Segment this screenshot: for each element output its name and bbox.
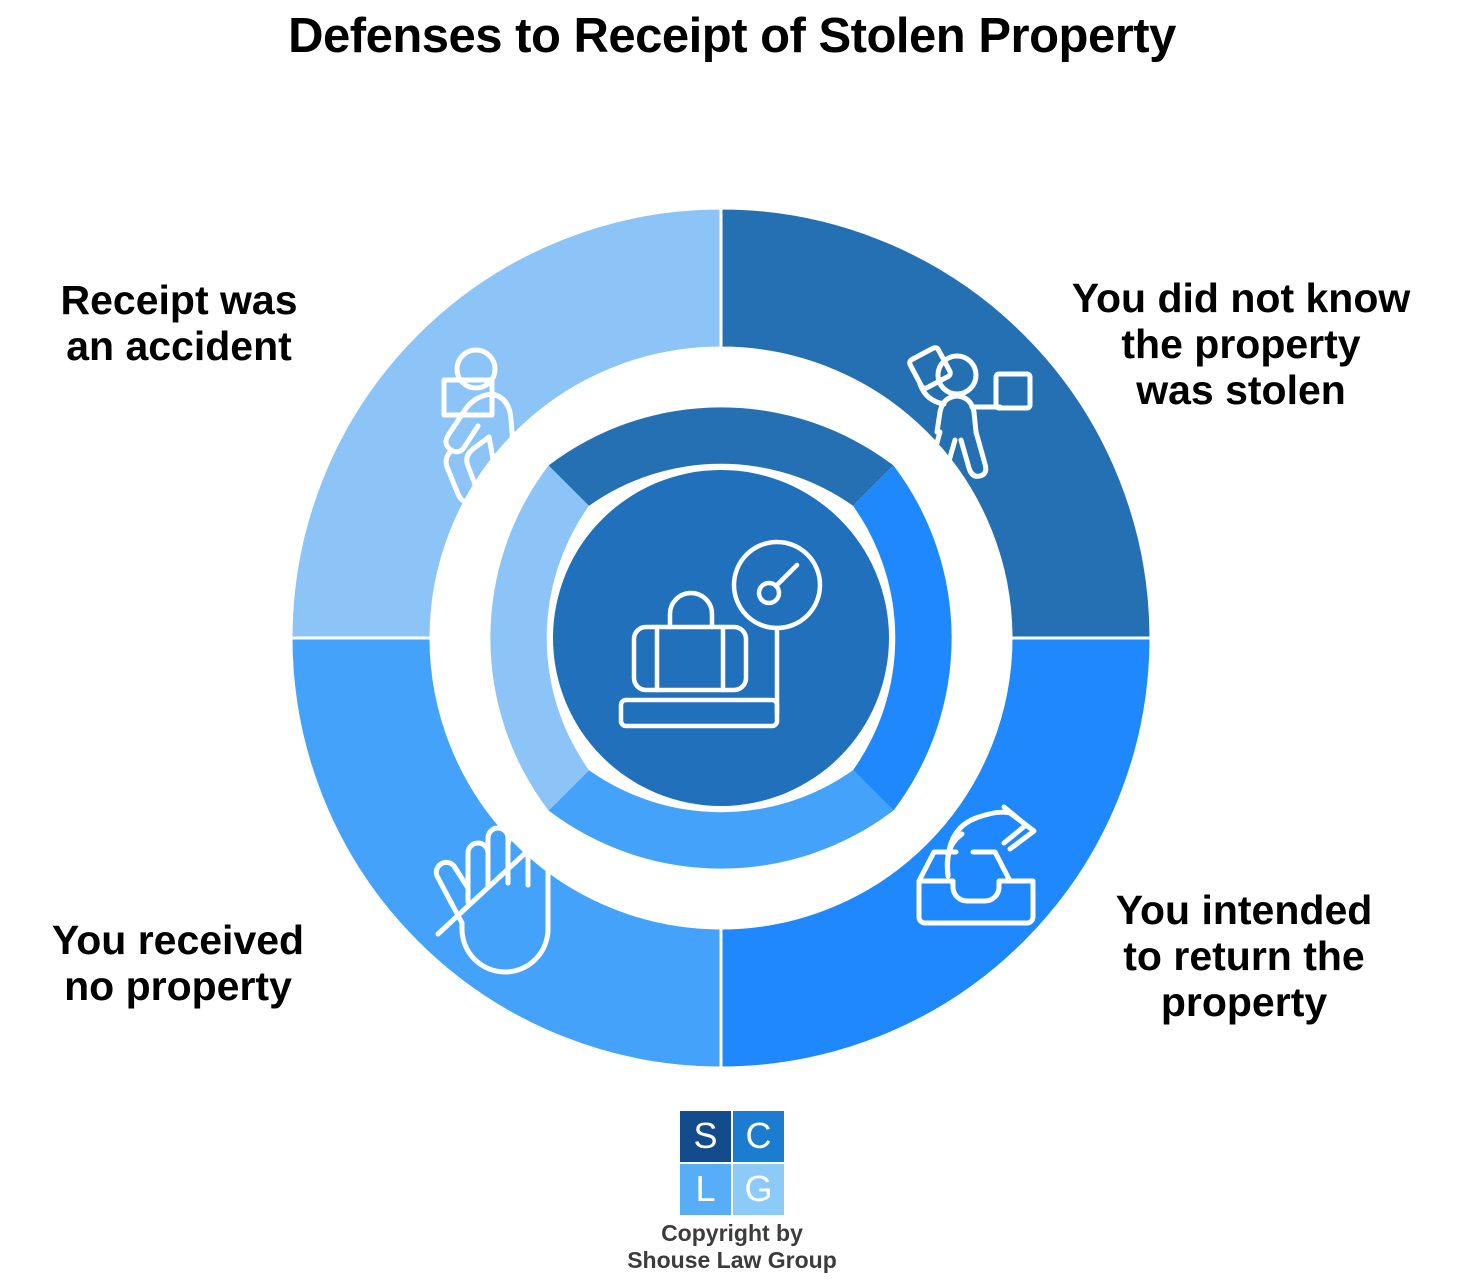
logo-cell-g: G bbox=[733, 1164, 784, 1215]
person-carrying-boxes-icon bbox=[908, 346, 1030, 476]
logo-cell-c: C bbox=[733, 1111, 784, 1162]
inner-arc-top-left bbox=[490, 466, 589, 811]
page-title: Defenses to Receipt of Stolen Property bbox=[0, 8, 1464, 64]
logo-cell-l: L bbox=[680, 1164, 731, 1215]
copyright-line-1: Copyright by bbox=[627, 1220, 837, 1247]
person-carrying-box-icon bbox=[444, 350, 514, 502]
segment-label-bottom-right: You intended to return the property bbox=[1034, 888, 1454, 1026]
return-to-tray-icon bbox=[919, 807, 1034, 923]
luggage-on-scale-icon bbox=[621, 542, 820, 726]
inner-arc-top-right bbox=[549, 407, 894, 506]
segment-top-right[interactable] bbox=[721, 208, 1151, 638]
inner-arc-bottom-left bbox=[549, 770, 894, 869]
segment-bottom-left[interactable] bbox=[291, 638, 721, 1068]
segment-label-top-right: You did not know the property was stolen bbox=[1026, 276, 1456, 414]
shouse-law-group-logo: S C L G bbox=[680, 1111, 784, 1215]
inner-arc-bottom-right bbox=[853, 466, 952, 811]
copyright-line-2: Shouse Law Group bbox=[627, 1247, 837, 1274]
footer: S C L G Copyright by Shouse Law Group bbox=[0, 1111, 1464, 1274]
copyright-text: Copyright by Shouse Law Group bbox=[627, 1220, 837, 1274]
segment-label-top-left: Receipt was an accident bbox=[14, 278, 344, 370]
segment-label-bottom-left: You received no property bbox=[8, 918, 348, 1010]
no-hand-icon bbox=[436, 828, 548, 972]
center-circle bbox=[553, 470, 889, 806]
segment-top-left[interactable] bbox=[291, 208, 721, 638]
logo-cell-s: S bbox=[680, 1111, 731, 1162]
